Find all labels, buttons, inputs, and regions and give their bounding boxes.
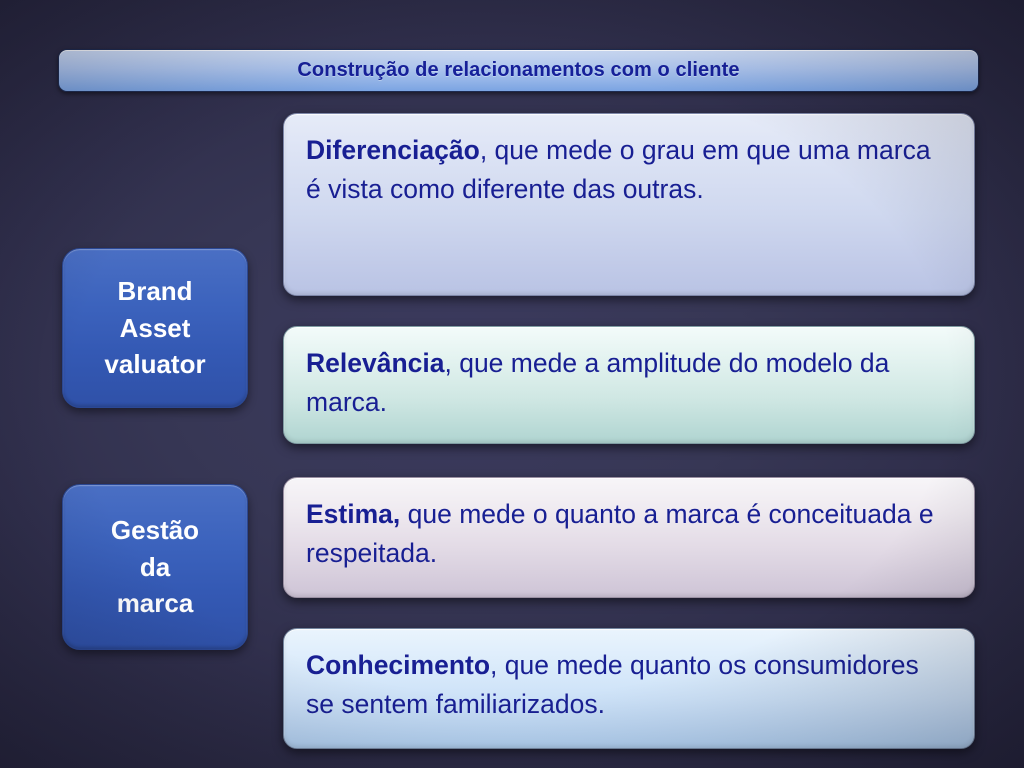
description-text: que mede o quanto a marca é conceituada …	[306, 499, 934, 568]
category-box-gestao-da-marca[interactable]: Gestão da marca	[62, 484, 248, 650]
slide-title-banner: Construção de relacionamentos com o clie…	[58, 49, 979, 92]
description-lead: Estima,	[306, 499, 400, 529]
description-box-relevancia[interactable]: Relevância, que mede a amplitude do mode…	[283, 326, 975, 444]
category-label-line-3: valuator	[104, 346, 205, 383]
description-lead: Conhecimento	[306, 650, 490, 680]
page-title: Construção de relacionamentos com o clie…	[297, 59, 739, 82]
description-lead: Relevância	[306, 348, 444, 378]
category-label-line-1: Brand	[117, 273, 192, 310]
category-box-brand-asset-valuator[interactable]: Brand Asset valuator	[62, 248, 248, 408]
description-box-diferenciacao[interactable]: Diferenciação, que mede o grau em que um…	[283, 113, 975, 296]
category-label-line-3: marca	[117, 585, 194, 622]
description-lead: Diferenciação	[306, 135, 480, 165]
description-box-estima[interactable]: Estima, que mede o quanto a marca é conc…	[283, 477, 975, 598]
slide-canvas: Construção de relacionamentos com o clie…	[0, 0, 1024, 768]
category-label-line-2: Asset	[120, 310, 191, 347]
category-label-line-1: Gestão	[111, 512, 199, 549]
description-box-conhecimento[interactable]: Conhecimento, que mede quanto os consumi…	[283, 628, 975, 749]
category-label-line-2: da	[140, 549, 170, 586]
